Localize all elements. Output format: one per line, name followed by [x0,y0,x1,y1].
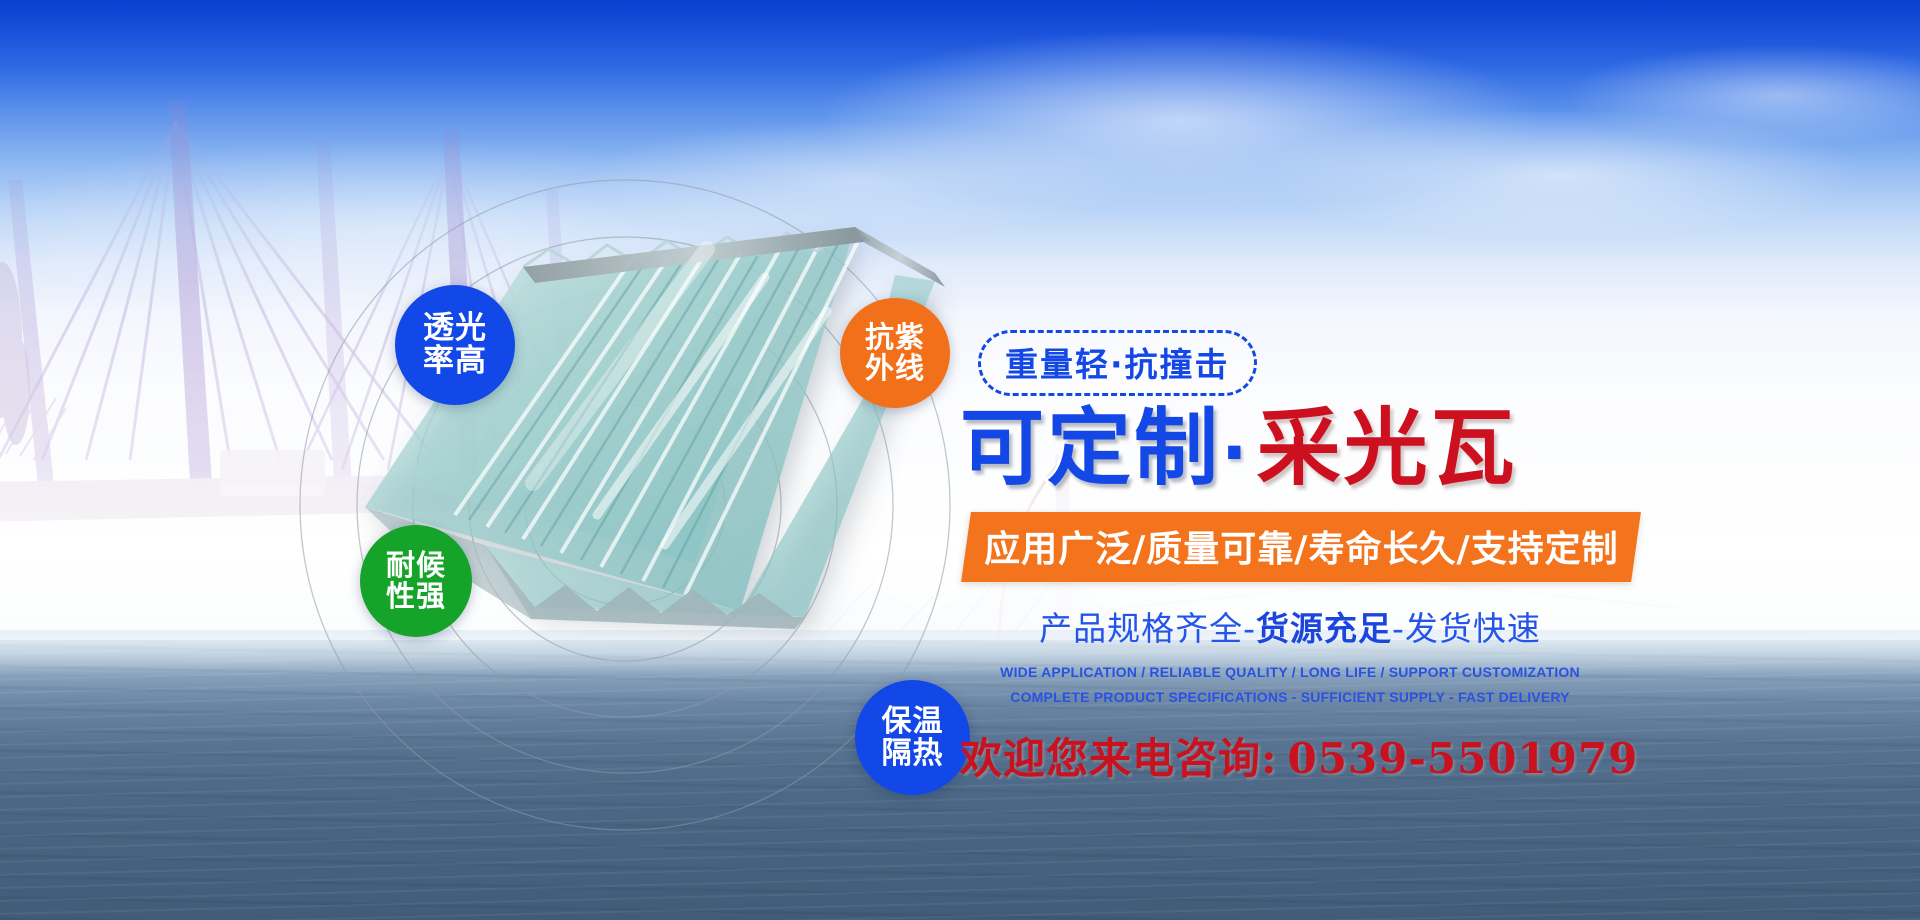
badge-4-line1: 保温 [882,706,944,738]
headline-blue-text: 可定制 [960,399,1221,497]
english-line-1: WIDE APPLICATION / RELIABLE QUALITY / LO… [960,660,1620,685]
product-banner: 透光 率高 抗紫 外线 耐候 性强 保温 隔热 重量轻·抗撞击 可定制·采光瓦 … [0,0,1920,920]
badge-3-line1: 耐候 [386,550,446,581]
contact-phone-line[interactable]: 欢迎您来电咨询:0539-5501979 [960,725,1620,786]
english-subtitles: WIDE APPLICATION / RELIABLE QUALITY / LO… [960,660,1620,709]
phone-label: 欢迎您来电咨询: [960,734,1278,783]
badge-1-line2: 率高 [423,345,487,378]
tagline-pill: 重量轻·抗撞击 [978,330,1257,396]
badge-2-line1: 抗紫 [865,322,925,353]
feature-bar-label: 应用广泛/质量可靠/寿命长久/支持定制 [984,520,1618,572]
headline-separator-dot: · [1221,412,1251,494]
headline-red-text: 采光瓦 [1257,399,1518,497]
badge-3-line2: 性强 [386,581,446,612]
badge-uv-resistant: 抗紫 外线 [840,298,950,408]
english-line-2: COMPLETE PRODUCT SPECIFICATIONS - SUFFIC… [960,685,1620,710]
badge-light-transmittance: 透光 率高 [395,285,515,405]
phone-number[interactable]: 0539-5501979 [1288,734,1639,783]
feature-highlight-bar: 应用广泛/质量可靠/寿命长久/支持定制 [961,512,1641,582]
subline-part-1: 产品规格齐全- [1039,609,1256,648]
badge-weather-resistant: 耐候 性强 [360,525,472,637]
supply-subline: 产品规格齐全-货源充足-发货快速 [960,602,1620,650]
badge-1-line1: 透光 [423,312,487,345]
badge-2-line2: 外线 [865,353,925,384]
badge-thermal-insulation: 保温 隔热 [855,680,970,795]
marketing-copy-block: 重量轻·抗撞击 可定制·采光瓦 应用广泛/质量可靠/寿命长久/支持定制 产品规格… [960,330,1660,786]
subline-bold-part: 货源充足 [1256,609,1392,648]
subline-part-2: -发货快速 [1392,609,1541,648]
page-title: 可定制·采光瓦 [960,404,1660,492]
badge-4-line2: 隔热 [882,738,944,770]
